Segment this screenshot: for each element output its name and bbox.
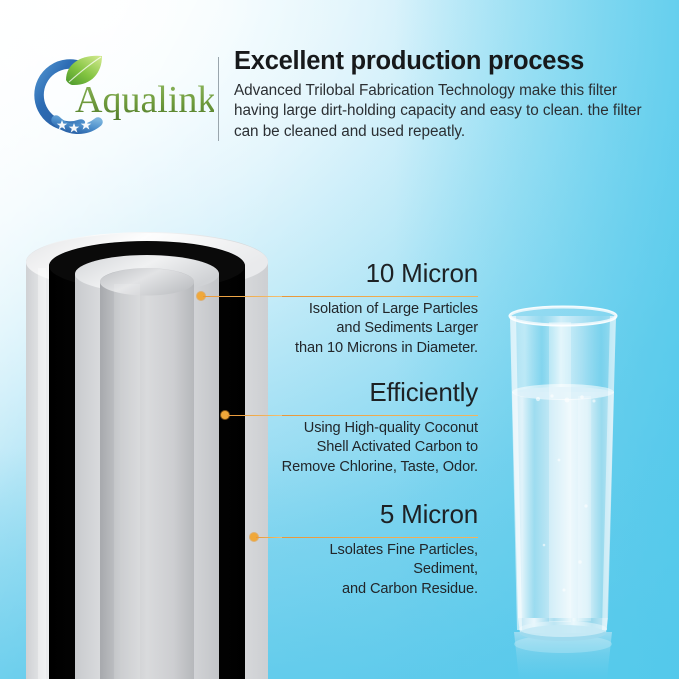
glass-of-filtered-water [494, 300, 649, 679]
callout-description: Lsolates Fine Particles, Sediment, and C… [238, 541, 478, 599]
infographic-canvas: Aqualink Excellent production process Ad… [0, 0, 679, 679]
callout-leader-line [256, 537, 282, 539]
callout-title: 5 Micron [238, 499, 478, 530]
callout-underline [282, 537, 478, 538]
water-glass-illustration [494, 300, 649, 679]
glass-body [510, 307, 616, 641]
